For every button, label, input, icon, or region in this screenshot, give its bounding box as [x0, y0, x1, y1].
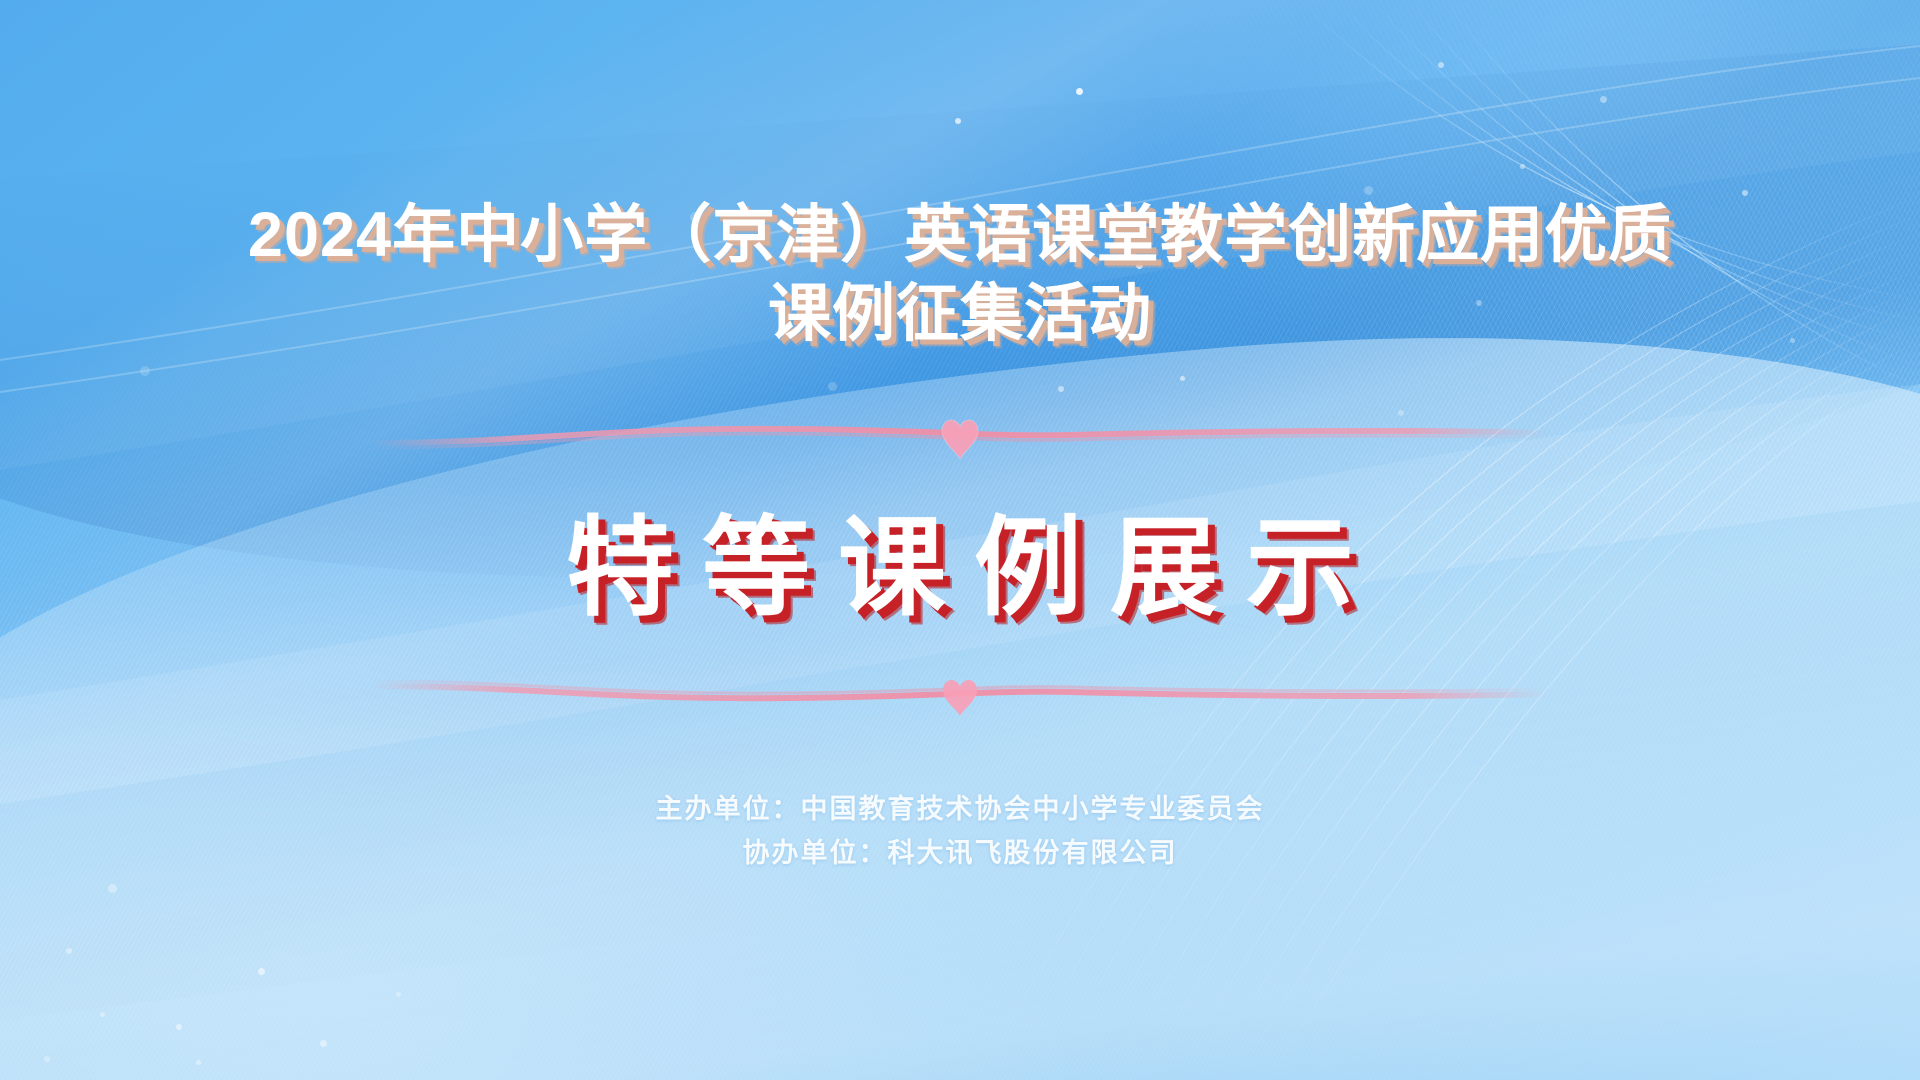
- host-organization: 主办单位：中国教育技术协会中小学专业委员会: [656, 788, 1265, 832]
- main-headline: 特等课例展示: [538, 511, 1382, 624]
- organizer-info: 主办单位：中国教育技术协会中小学专业委员会 协办单位：科大讯飞股份有限公司: [656, 788, 1265, 875]
- heart-icon: [942, 420, 978, 459]
- heart-icon: [943, 680, 977, 716]
- poster-stage: 2024年中小学（京津）英语课堂教学创新应用优质 课例征集活动: [0, 0, 1920, 1080]
- event-title: 2024年中小学（京津）英语课堂教学创新应用优质 课例征集活动: [0, 196, 1920, 355]
- event-title-line-1: 2024年中小学（京津）英语课堂教学创新应用优质: [0, 196, 1920, 275]
- event-title-line-2: 课例征集活动: [0, 275, 1920, 354]
- divider-bottom: [370, 656, 1550, 722]
- divider-top: [370, 399, 1550, 465]
- cohost-organization: 协办单位：科大讯飞股份有限公司: [656, 832, 1265, 876]
- poster-content: 2024年中小学（京津）英语课堂教学创新应用优质 课例征集活动: [0, 0, 1920, 1080]
